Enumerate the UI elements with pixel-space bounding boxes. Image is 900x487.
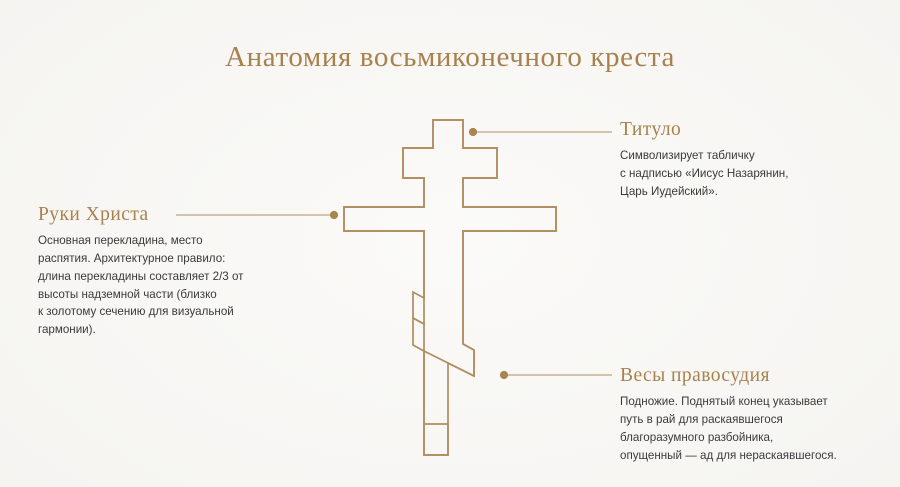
orthodox-cross-outline	[344, 120, 556, 455]
annotation-scales-of-justice: Весы правосудия Подножие. Поднятый конец…	[620, 365, 892, 464]
annotation-hands-line-5: к золотому сечению для визуальной	[38, 303, 288, 321]
annotation-titulo: Титуло Символизирует табличку с надписью…	[620, 119, 885, 201]
annotation-titulo-heading: Титуло	[620, 119, 885, 140]
annotation-scales-line-2: путь в рай для раскаявшегося	[620, 411, 892, 429]
annotation-scales-heading: Весы правосудия	[620, 365, 892, 386]
annotation-scales-body: Подножие. Поднятый конец указывает путь …	[620, 393, 892, 464]
annotation-hands-line-1: Основная перекладина, место	[38, 232, 288, 250]
leader-dot-titulo	[469, 128, 477, 136]
annotation-titulo-line-3: Царь Иудейский».	[620, 183, 885, 201]
leader-line-titulo	[469, 128, 612, 136]
leader-dot-scales	[500, 371, 508, 379]
leader-dot-hands	[330, 211, 338, 219]
annotation-titulo-body: Символизирует табличку с надписью «Иисус…	[620, 147, 885, 200]
annotation-scales-line-3: благоразумного разбойника,	[620, 429, 892, 447]
diagram-canvas: Анатомия восьмиконечного креста Титуло С…	[0, 0, 900, 487]
annotation-scales-line-1: Подножие. Поднятый конец указывает	[620, 393, 892, 411]
leader-line-scales	[500, 371, 612, 379]
annotation-hands-line-6: гармонии).	[38, 321, 288, 339]
annotation-titulo-line-2: с надписью «Иисус Назарянин,	[620, 165, 885, 183]
annotation-hands-line-3: длина перекладины составляет 2/3 от	[38, 268, 288, 286]
annotation-titulo-line-1: Символизирует табличку	[620, 147, 885, 165]
annotation-hands-line-2: распятия. Архитектурное правило:	[38, 250, 288, 268]
annotation-hands-of-christ: Руки Христа Основная перекладина, место …	[38, 204, 288, 339]
annotation-scales-line-4: опущенный — ад для нераскаявшегося.	[620, 447, 892, 465]
annotation-hands-heading: Руки Христа	[38, 204, 288, 225]
annotation-hands-body: Основная перекладина, место распятия. Ар…	[38, 232, 288, 338]
annotation-hands-line-4: высоты надземной части (близко	[38, 286, 288, 304]
